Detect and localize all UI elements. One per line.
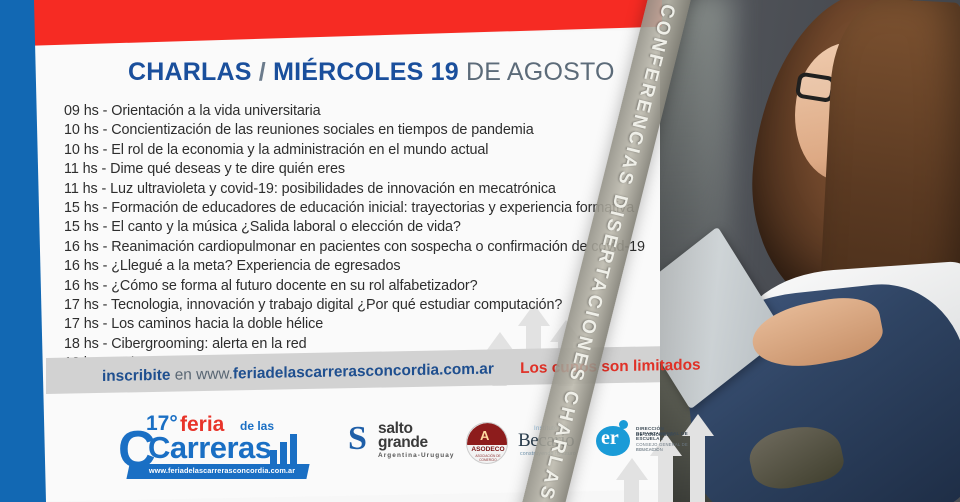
logo-feria-url: www.feriadelascarrerasconcordia.com.ar (134, 466, 310, 475)
sponsor-logos: C 17° feria de las Carreras www.feriadel… (0, 402, 660, 502)
page-title: CHARLAS / MIÉRCOLES 19 DE AGOSTO (128, 58, 615, 87)
talk-title: ¿Llegué a la meta? Experiencia de egresa… (111, 258, 400, 274)
er-line2: DE CONCORDIA (636, 432, 675, 437)
list-item: 16 hs - ¿Cómo se forma al futuro docente… (64, 277, 644, 296)
title-charlas: CHARLAS (128, 58, 252, 86)
talk-title: El rol de la economia y la administració… (111, 142, 488, 158)
list-item: 11 hs - Luz ultravioleta y covid-19: pos… (64, 180, 644, 199)
list-item: 09 hs - Orientación a la vida universita… (64, 102, 644, 121)
talk-dash: - (102, 161, 107, 177)
logo-asodeco[interactable]: A ASODECO ASOCIACIÓN DE COMERCIO (466, 422, 510, 468)
talk-title: Cibergrooming: alerta en la red (111, 336, 306, 352)
talk-dash: - (103, 258, 108, 274)
logo-feria-de-las-carreras[interactable]: C 17° feria de las Carreras www.feriadel… (118, 410, 308, 482)
list-item: 16 hs - ¿Llegué a la meta? Experiencia d… (64, 257, 644, 276)
list-item: 17 hs - Tecnologia, innovación y trabajo… (64, 296, 644, 315)
talk-hour: 17 hs (64, 297, 99, 313)
title-date: MIÉRCOLES 19 (273, 58, 459, 86)
talk-dash: - (103, 239, 108, 255)
talk-title: Concientización de las reuniones sociale… (111, 122, 533, 138)
talk-hour: 18 hs (64, 336, 99, 352)
talk-title: ¿Cómo se forma al futuro docente en su r… (111, 278, 477, 294)
list-item: 16 hs - Reanimación cardiopulmonar en pa… (64, 238, 644, 257)
talk-dash: - (103, 200, 108, 216)
talk-dash: - (103, 219, 108, 235)
talk-title: Tecnologia, innovación y trabajo digital… (111, 297, 562, 313)
list-item: 15 hs - Formación de educadores de educa… (64, 199, 644, 218)
cta-domain-link[interactable]: feriadelascarrerasconcordia.com.ar (233, 360, 494, 382)
talk-hour: 10 hs (64, 122, 99, 138)
talk-hour: 10 hs (64, 142, 99, 158)
talk-dash: - (103, 103, 108, 119)
title-separator: / (259, 58, 266, 86)
salto-line2: grande (378, 434, 428, 452)
cta-inscribite: inscribite (102, 367, 170, 385)
list-item: 17 hs - Los caminos hacia la doble hélic… (64, 315, 644, 334)
logo-salto-grande[interactable]: S salto grande Argentina-Uruguay (348, 420, 466, 470)
talk-dash: - (102, 181, 107, 197)
talk-title: Luz ultravioleta y covid-19: posibilidad… (110, 181, 556, 197)
list-item: 11 hs - Dime qué deseas y te dire quién … (64, 160, 644, 179)
salto-subtitle: Argentina-Uruguay (378, 452, 455, 459)
talk-dash: - (103, 122, 108, 138)
talks-schedule-list: 09 hs - Orientación a la vida universita… (64, 102, 644, 374)
logo-instituto-becario[interactable]: Instituto del Becario construyendo tu fu… (518, 426, 592, 464)
bar-chart-icon (270, 428, 314, 464)
talk-hour: 09 hs (64, 103, 99, 119)
logo-feria-carreras-word: Carreras (148, 430, 272, 466)
talk-title: Los caminos hacia la doble hélice (111, 316, 323, 332)
talk-dash: - (103, 336, 108, 352)
er-line4: ENTRE RÍOS (636, 448, 658, 452)
talk-hour: 11 hs (64, 161, 98, 177)
poster-canvas: CHARLAS / MIÉRCOLES 19 DE AGOSTO 09 hs -… (0, 0, 960, 502)
talk-hour: 17 hs (64, 316, 99, 332)
asodeco-badge-icon: A ASODECO ASOCIACIÓN DE COMERCIO (466, 422, 508, 464)
talk-title: Dime qué deseas y te dire quién eres (110, 161, 345, 177)
talk-hour: 16 hs (64, 239, 99, 255)
logo-entre-rios-educacion[interactable]: er DIRECCIÓN DEPARTAMENTAL DE ESCUELAS D… (596, 424, 706, 464)
talk-hour: 15 hs (64, 219, 99, 235)
salto-swoosh-icon: S (348, 422, 367, 456)
cta-limited-seats-note: Los cupos son limitados (520, 357, 700, 377)
talk-title: Orientación a la vida universitaria (111, 103, 320, 119)
talk-title: Reanimación cardiopulmonar en pacientes … (111, 239, 645, 255)
talk-hour: 16 hs (64, 258, 99, 274)
talk-hour: 16 hs (64, 278, 99, 294)
becario-main: Becario (518, 430, 574, 452)
talk-title: El canto y la música ¿Salida laboral o e… (111, 219, 461, 235)
er-mark-letters: er (601, 428, 619, 448)
talk-dash: - (103, 142, 108, 158)
talk-hour: 11 hs (64, 181, 98, 197)
talk-dash: - (103, 316, 108, 332)
cta-en-www: en www. (175, 365, 233, 383)
list-item: 10 hs - El rol de la economia y la admin… (64, 141, 644, 160)
er-dot-icon (619, 420, 628, 429)
list-item: 10 hs - Concientización de las reuniones… (64, 121, 644, 140)
talk-dash: - (103, 297, 108, 313)
talk-title: Formación de educadores de educación ini… (111, 200, 634, 216)
asodeco-mark: A (480, 428, 489, 443)
talk-hour: 15 hs (64, 200, 99, 216)
title-month: DE AGOSTO (466, 58, 615, 86)
asodeco-subtitle: ASOCIACIÓN DE COMERCIO (467, 454, 508, 462)
asodeco-name: ASODECO (467, 446, 508, 453)
list-item: 15 hs - El canto y la música ¿Salida lab… (64, 218, 644, 237)
becario-subtitle: construyendo tu futuro (520, 451, 576, 457)
talk-dash: - (103, 278, 108, 294)
